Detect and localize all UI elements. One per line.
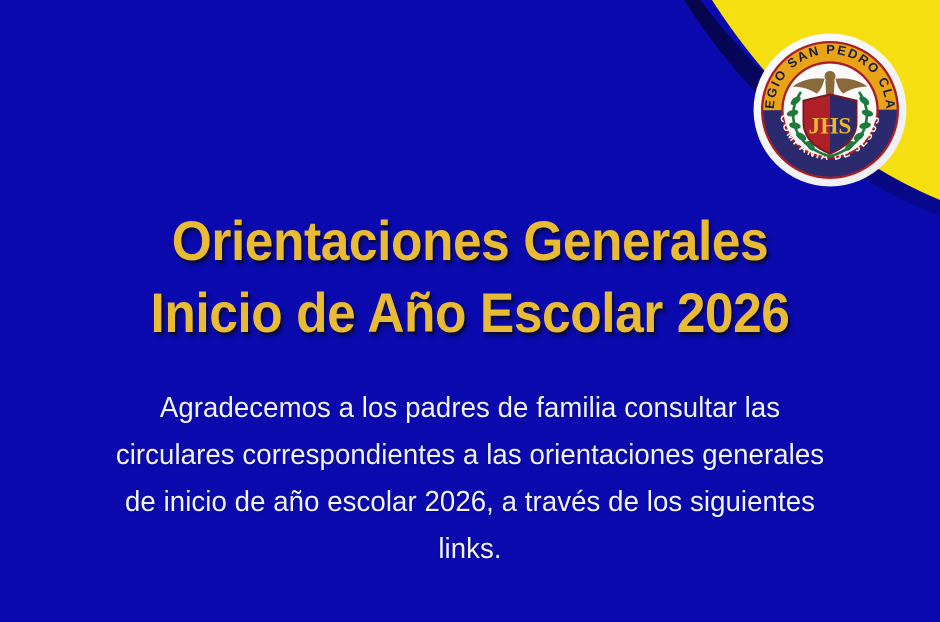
poster-content: Orientaciones Generales Inicio de Año Es… [0,0,940,622]
body-paragraph: Agradecemos a los padres de familia cons… [109,385,831,573]
headline-line-1: Orientaciones Generales [102,205,838,277]
promo-poster: COLEGIO SAN PEDRO CLAVER COMPAÑIA DE JES… [0,0,940,622]
headline-line-2: Inicio de Año Escolar 2026 [102,277,838,349]
